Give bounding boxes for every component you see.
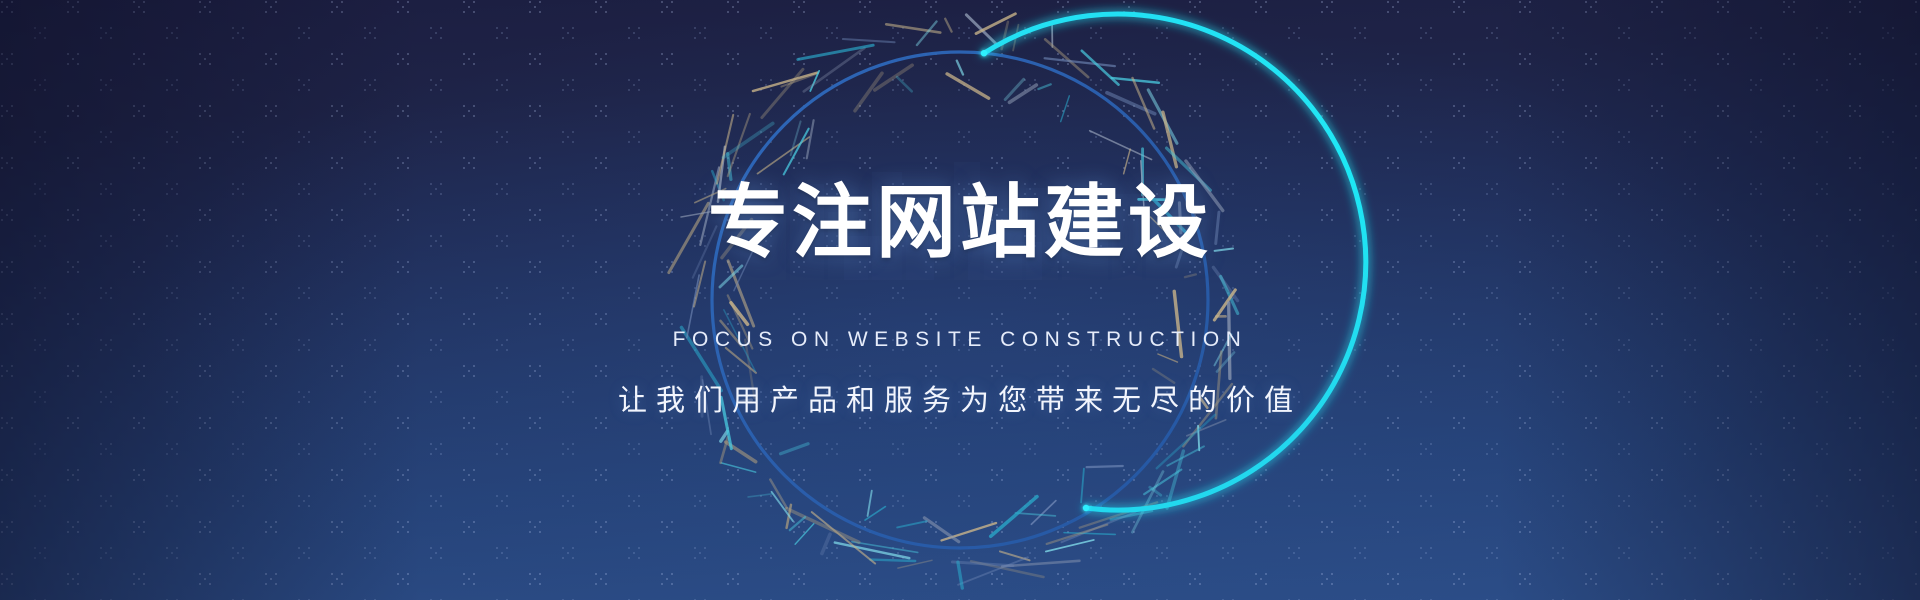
hero-banner: 专注网站建设 FOCUS ON WEBSITE CONSTRUCTION 让我们… <box>0 0 1920 600</box>
radial-tick <box>1015 513 1055 516</box>
radial-tick <box>795 524 814 544</box>
radial-tick <box>1080 502 1157 527</box>
radial-tick <box>971 561 1043 577</box>
radial-tick <box>758 137 810 174</box>
radial-tick <box>1002 561 1079 567</box>
arc-start-cap <box>981 50 987 56</box>
radial-tick <box>798 45 873 59</box>
radial-tick <box>1013 25 1018 51</box>
radial-tick <box>1045 39 1088 77</box>
radial-tick <box>958 562 962 588</box>
radial-tick <box>1133 78 1155 129</box>
radial-tick <box>1045 58 1115 66</box>
radial-tick <box>991 497 1037 537</box>
radial-tick <box>728 154 731 180</box>
radial-tick <box>1112 78 1159 83</box>
radial-tick <box>753 73 818 92</box>
radial-tick <box>947 74 989 98</box>
radial-tick <box>1107 93 1155 114</box>
radial-tick <box>1009 85 1036 102</box>
radial-tick <box>804 48 865 91</box>
radial-tick <box>868 491 872 516</box>
dot-grid-texture-offset <box>0 0 1920 600</box>
radial-tick <box>917 22 937 46</box>
radial-tick <box>781 73 817 86</box>
radial-tick <box>852 542 918 553</box>
radial-tick <box>1144 470 1181 495</box>
radial-tick <box>790 517 805 530</box>
radial-tick <box>721 431 728 441</box>
radial-tick <box>897 77 912 91</box>
radial-tick <box>1167 446 1204 465</box>
radial-tick <box>1031 501 1055 525</box>
radial-tick <box>1087 466 1123 467</box>
radial-tick <box>875 65 912 90</box>
radial-tick <box>843 39 895 42</box>
radial-tick <box>1150 487 1161 495</box>
radial-tick <box>1000 551 1030 560</box>
radial-tick <box>731 303 748 325</box>
radial-tick <box>1221 276 1238 313</box>
radial-tick <box>957 61 963 75</box>
page-title: 专注网站建设 <box>0 183 1920 263</box>
radial-tick <box>720 266 742 287</box>
radial-tick <box>1124 149 1131 174</box>
radial-tick <box>1082 51 1119 85</box>
radial-tick <box>822 534 830 553</box>
radial-tick <box>835 543 909 559</box>
arc-end-cap <box>1083 505 1089 511</box>
radial-tick <box>898 560 932 568</box>
radial-tick <box>787 509 859 543</box>
radial-tick-marks <box>669 14 1238 588</box>
radial-tick <box>924 518 958 542</box>
radial-tick <box>812 512 875 563</box>
radial-tick <box>1213 267 1237 300</box>
radial-tick <box>1061 96 1070 122</box>
radial-tick <box>952 562 1012 566</box>
radial-tick <box>865 507 885 521</box>
radial-tick <box>1158 354 1177 362</box>
subtitle-english: FOCUS ON WEBSITE CONSTRUCTION <box>0 328 1920 352</box>
radial-tick <box>694 261 705 306</box>
radial-tick <box>781 444 809 454</box>
radial-tick <box>945 19 951 32</box>
radial-tick <box>1217 352 1234 371</box>
radial-tick <box>1081 469 1084 503</box>
subtitle-chinese: 让我们用产品和服务为您带来无尽的价值 <box>0 377 1920 419</box>
radial-tick <box>1148 90 1177 143</box>
radial-tick <box>1163 112 1176 167</box>
radial-tick <box>762 69 803 117</box>
radial-tick <box>1005 79 1023 99</box>
radial-tick <box>1167 451 1183 508</box>
radial-tick <box>784 129 809 175</box>
radial-tick <box>1002 22 1008 49</box>
radial-tick <box>1198 426 1199 450</box>
radial-tick <box>810 71 819 91</box>
radial-tick <box>772 492 793 521</box>
radial-tick <box>723 123 772 157</box>
radial-tick <box>807 120 814 158</box>
radial-tick <box>787 505 791 528</box>
dot-grid-texture <box>0 0 1920 600</box>
radial-tick <box>748 494 772 497</box>
background-vignette <box>0 0 1920 600</box>
tech-circle-ring <box>0 0 1920 600</box>
radial-tick <box>1090 131 1152 160</box>
radial-tick <box>726 442 756 462</box>
radial-tick <box>721 463 755 472</box>
radial-tick <box>941 523 996 540</box>
radial-tick <box>770 480 787 508</box>
radial-tick <box>855 73 882 111</box>
radial-tick <box>1132 472 1163 533</box>
radial-tick <box>1187 420 1226 436</box>
radial-tick <box>717 115 733 184</box>
radial-tick <box>791 121 801 155</box>
radial-tick <box>1064 533 1115 535</box>
radial-tick <box>1047 525 1108 544</box>
radial-tick <box>1185 274 1196 277</box>
radial-tick <box>728 261 754 326</box>
radial-tick <box>870 560 915 561</box>
radial-tick <box>1214 290 1235 320</box>
radial-tick <box>1157 415 1215 468</box>
radial-tick <box>728 114 750 176</box>
radial-tick <box>721 437 728 462</box>
radial-tick <box>886 24 940 32</box>
radial-tick <box>1046 540 1094 552</box>
radial-tick <box>1062 512 1136 542</box>
radial-tick <box>897 521 926 527</box>
radial-tick <box>976 14 1015 34</box>
radial-tick <box>1111 511 1152 520</box>
radial-tick <box>1038 84 1050 89</box>
radial-tick <box>966 15 997 45</box>
radial-tick <box>958 557 1028 584</box>
